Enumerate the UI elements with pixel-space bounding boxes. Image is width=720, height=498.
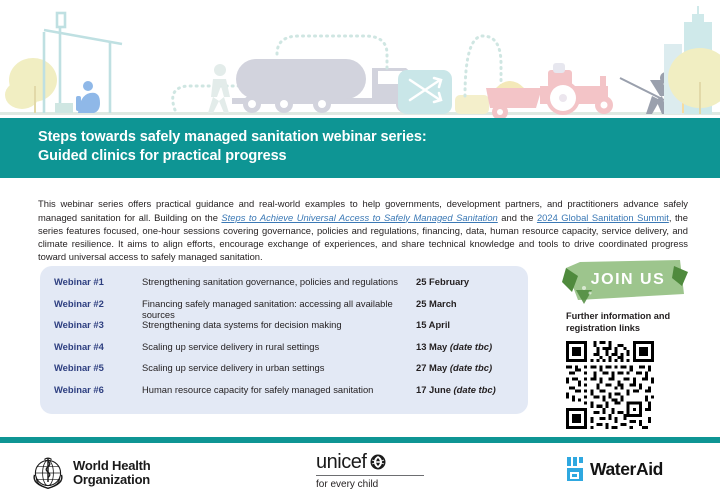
table-row[interactable]: Webinar #1 Strengthening sanitation gove… [40, 276, 528, 298]
title-banner: Steps towards safely managed sanitation … [0, 118, 720, 178]
treatment-plant-icon [398, 70, 452, 114]
webinar-date-value: 25 February [416, 276, 469, 287]
join-us-label: JOIN US [591, 271, 666, 288]
webinar-date-value: 27 May [416, 362, 450, 373]
webinar-date: 15 April [416, 319, 528, 330]
title-line-2: Guided clinics for practical progress [38, 147, 720, 166]
intro-paragraph: This webinar series offers practical gui… [38, 197, 688, 263]
webinar-date-value: 15 April [416, 319, 450, 330]
footer-logo-bar: World Health Organization unicef for eve… [0, 443, 720, 498]
webinar-date: 25 March [416, 298, 528, 309]
table-row[interactable]: Webinar #5 Scaling up service delivery i… [40, 362, 528, 384]
webinar-date: 13 May (date tbc) [416, 341, 528, 352]
unicef-wordmark-row: unicef [316, 451, 436, 473]
title-line-1: Steps towards safely managed sanitation … [38, 128, 720, 147]
table-row[interactable]: Webinar #2 Financing safely managed sani… [40, 298, 528, 320]
webinar-date: 27 May (date tbc) [416, 362, 528, 373]
webinar-topic: Human resource capacity for safely manag… [142, 384, 416, 395]
webinar-date-tbc: (date tbc) [454, 384, 496, 395]
header-illustration-banner [0, 0, 720, 118]
webinar-date-value: 17 June [416, 384, 454, 395]
qr-code[interactable] [566, 341, 654, 429]
webinar-number: Webinar #6 [54, 384, 142, 395]
webinar-row-list: Webinar #1 Strengthening sanitation gove… [40, 276, 528, 405]
webinar-date-tbc: (date tbc) [450, 341, 492, 352]
wateraid-wordmark: WaterAid [590, 459, 663, 480]
webinar-number: Webinar #4 [54, 341, 142, 352]
who-line-2: Organization [73, 473, 151, 488]
intro-text-part-2: and the [498, 212, 537, 223]
who-logo: World Health Organization [30, 455, 151, 491]
further-line-1: Further information and [566, 311, 696, 323]
who-line-1: World Health [73, 459, 151, 474]
further-information-text: Further information and registration lin… [566, 311, 696, 334]
join-us-ribbon: JOIN US [562, 260, 688, 306]
who-emblem-icon [30, 455, 66, 491]
webinar-schedule-card: Webinar #1 Strengthening sanitation gove… [40, 266, 528, 414]
link-steps-to-achieve[interactable]: Steps to Achieve Universal Access to Saf… [221, 212, 497, 223]
webinar-date: 25 February [416, 276, 528, 287]
webinar-number: Webinar #2 [54, 298, 142, 309]
webinar-number: Webinar #5 [54, 362, 142, 373]
webinar-number: Webinar #3 [54, 319, 142, 330]
unicef-globe-icon [370, 454, 386, 470]
who-wordmark: World Health Organization [73, 459, 151, 488]
webinar-topic: Scaling up service delivery in urban set… [142, 362, 416, 373]
webinar-date-value: 13 May [416, 341, 450, 352]
table-row[interactable]: Webinar #6 Human resource capacity for s… [40, 384, 528, 406]
unicef-tagline: for every child [316, 479, 436, 490]
further-line-2: registration links [566, 323, 696, 335]
webinar-topic: Scaling up service delivery in rural set… [142, 341, 416, 352]
wateraid-logo: WaterAid [566, 457, 663, 481]
unicef-rule [316, 475, 424, 476]
poster-page: Steps towards safely managed sanitation … [0, 0, 720, 498]
link-global-sanitation-summit[interactable]: 2024 Global Sanitation Summit [537, 212, 669, 223]
unicef-wordmark: unicef [316, 451, 366, 473]
wateraid-mark-icon [566, 457, 587, 481]
webinar-topic: Financing safely managed sanitation: acc… [142, 298, 416, 320]
webinar-date-tbc: (date tbc) [450, 362, 492, 373]
table-row[interactable]: Webinar #4 Scaling up service delivery i… [40, 341, 528, 363]
unicef-logo: unicef for every child [316, 451, 436, 490]
webinar-topic: Strengthening data systems for decision … [142, 319, 416, 330]
webinar-date-value: 25 March [416, 298, 457, 309]
table-row[interactable]: Webinar #3 Strengthening data systems fo… [40, 319, 528, 341]
webinar-topic: Strengthening sanitation governance, pol… [142, 276, 416, 287]
webinar-number: Webinar #1 [54, 276, 142, 287]
webinar-date: 17 June (date tbc) [416, 384, 528, 395]
